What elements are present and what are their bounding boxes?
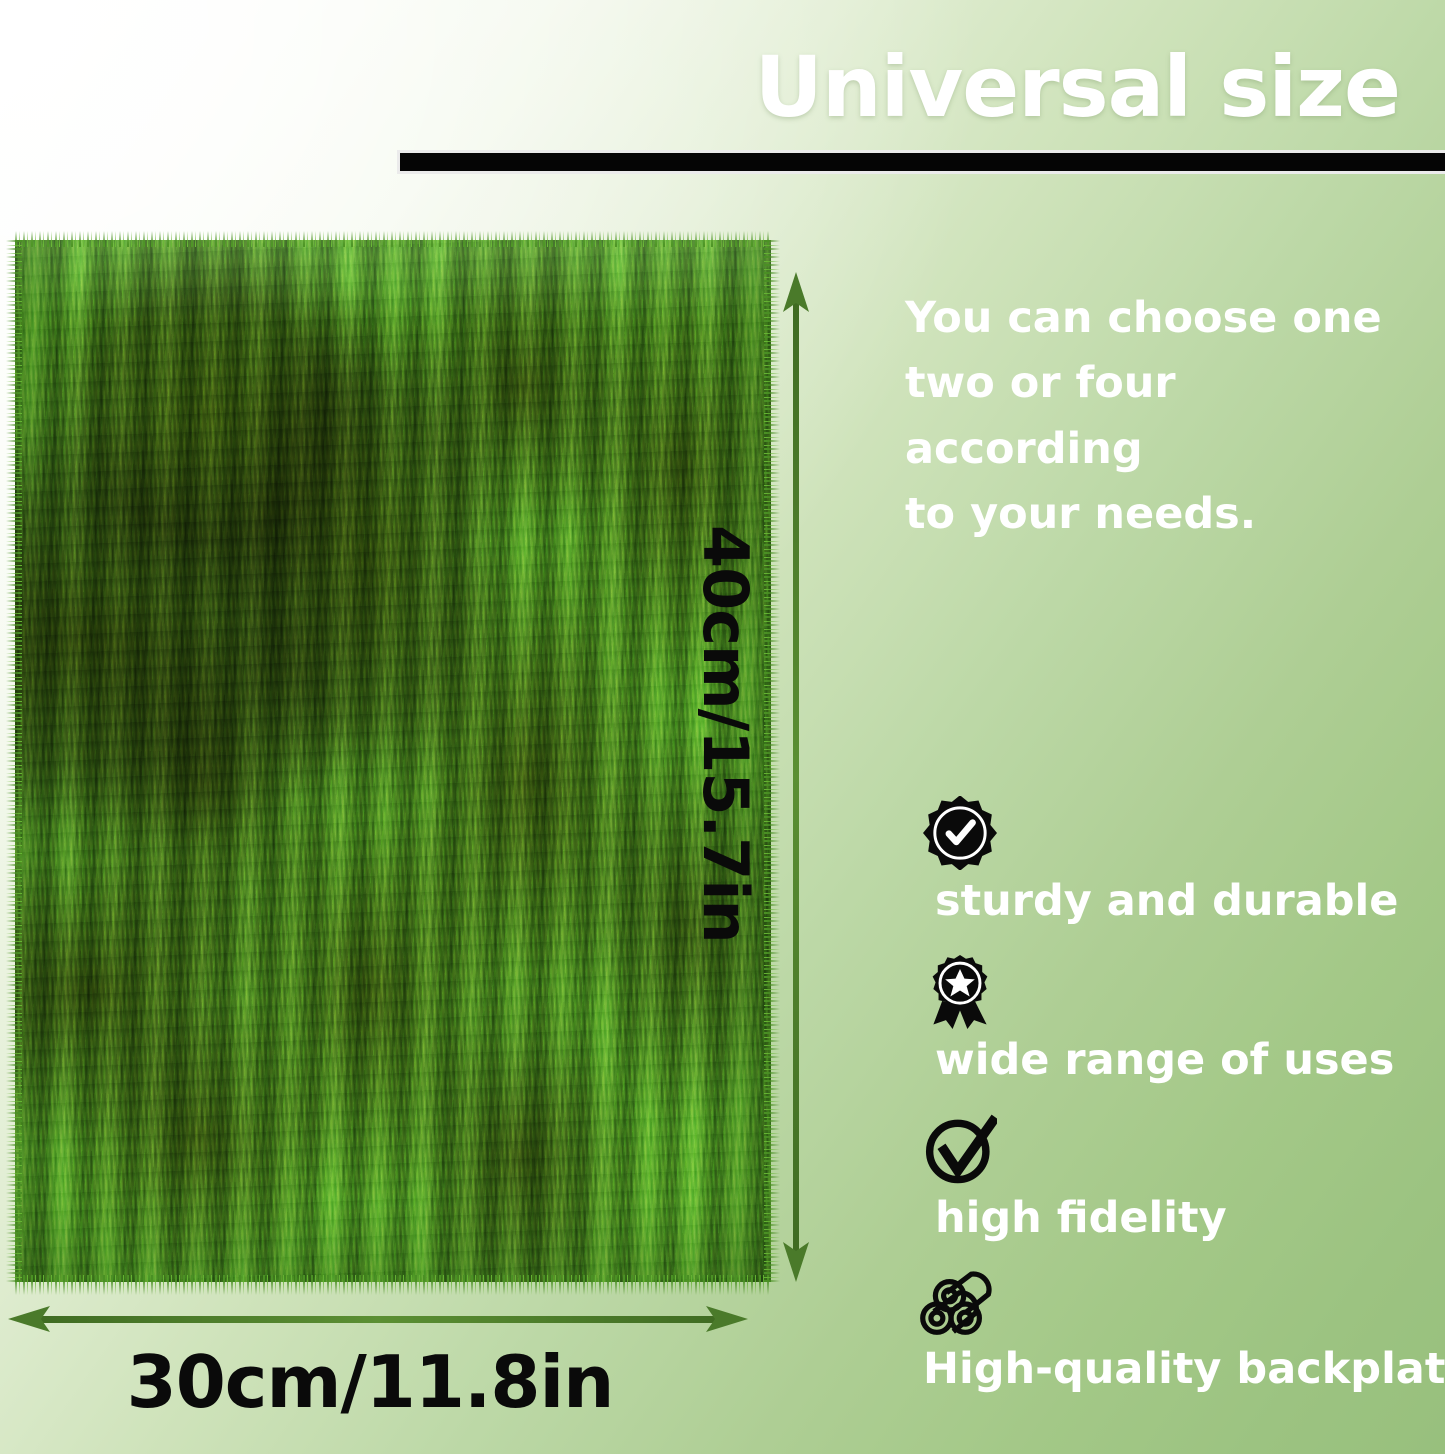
title-underline-bar — [397, 150, 1445, 174]
blurb-line-2: two or four according — [905, 351, 1425, 482]
blurb-line-3: to your needs. — [905, 482, 1425, 547]
circle-check-icon — [923, 1113, 997, 1187]
feature-label-sturdy: sturdy and durable — [935, 878, 1445, 925]
award-ribbon-icon — [923, 955, 997, 1029]
height-dimension-arrow — [778, 272, 814, 1282]
page-title: Universal size — [700, 34, 1400, 139]
choose-quantity-blurb: You can choose one two or four according… — [905, 286, 1425, 547]
feature-label-backplate: High-quality backplate — [923, 1346, 1443, 1393]
stacked-logs-icon — [919, 1268, 1001, 1340]
infographic-canvas: Universal size 40cm/15.7in — [0, 0, 1445, 1454]
panel-shading — [15, 240, 771, 1282]
height-dimension-label: 40cm/15.7in — [689, 525, 762, 943]
blurb-line-1: You can choose one — [905, 286, 1425, 351]
width-dimension-label: 30cm/11.8in — [0, 1340, 740, 1424]
feature-label-high-fidelity: high fidelity — [935, 1195, 1445, 1242]
width-dimension-arrow — [8, 1300, 748, 1340]
badge-check-icon — [923, 796, 997, 870]
product-image-moss-panel — [15, 240, 771, 1282]
feature-label-wide-range: wide range of uses — [935, 1037, 1445, 1084]
